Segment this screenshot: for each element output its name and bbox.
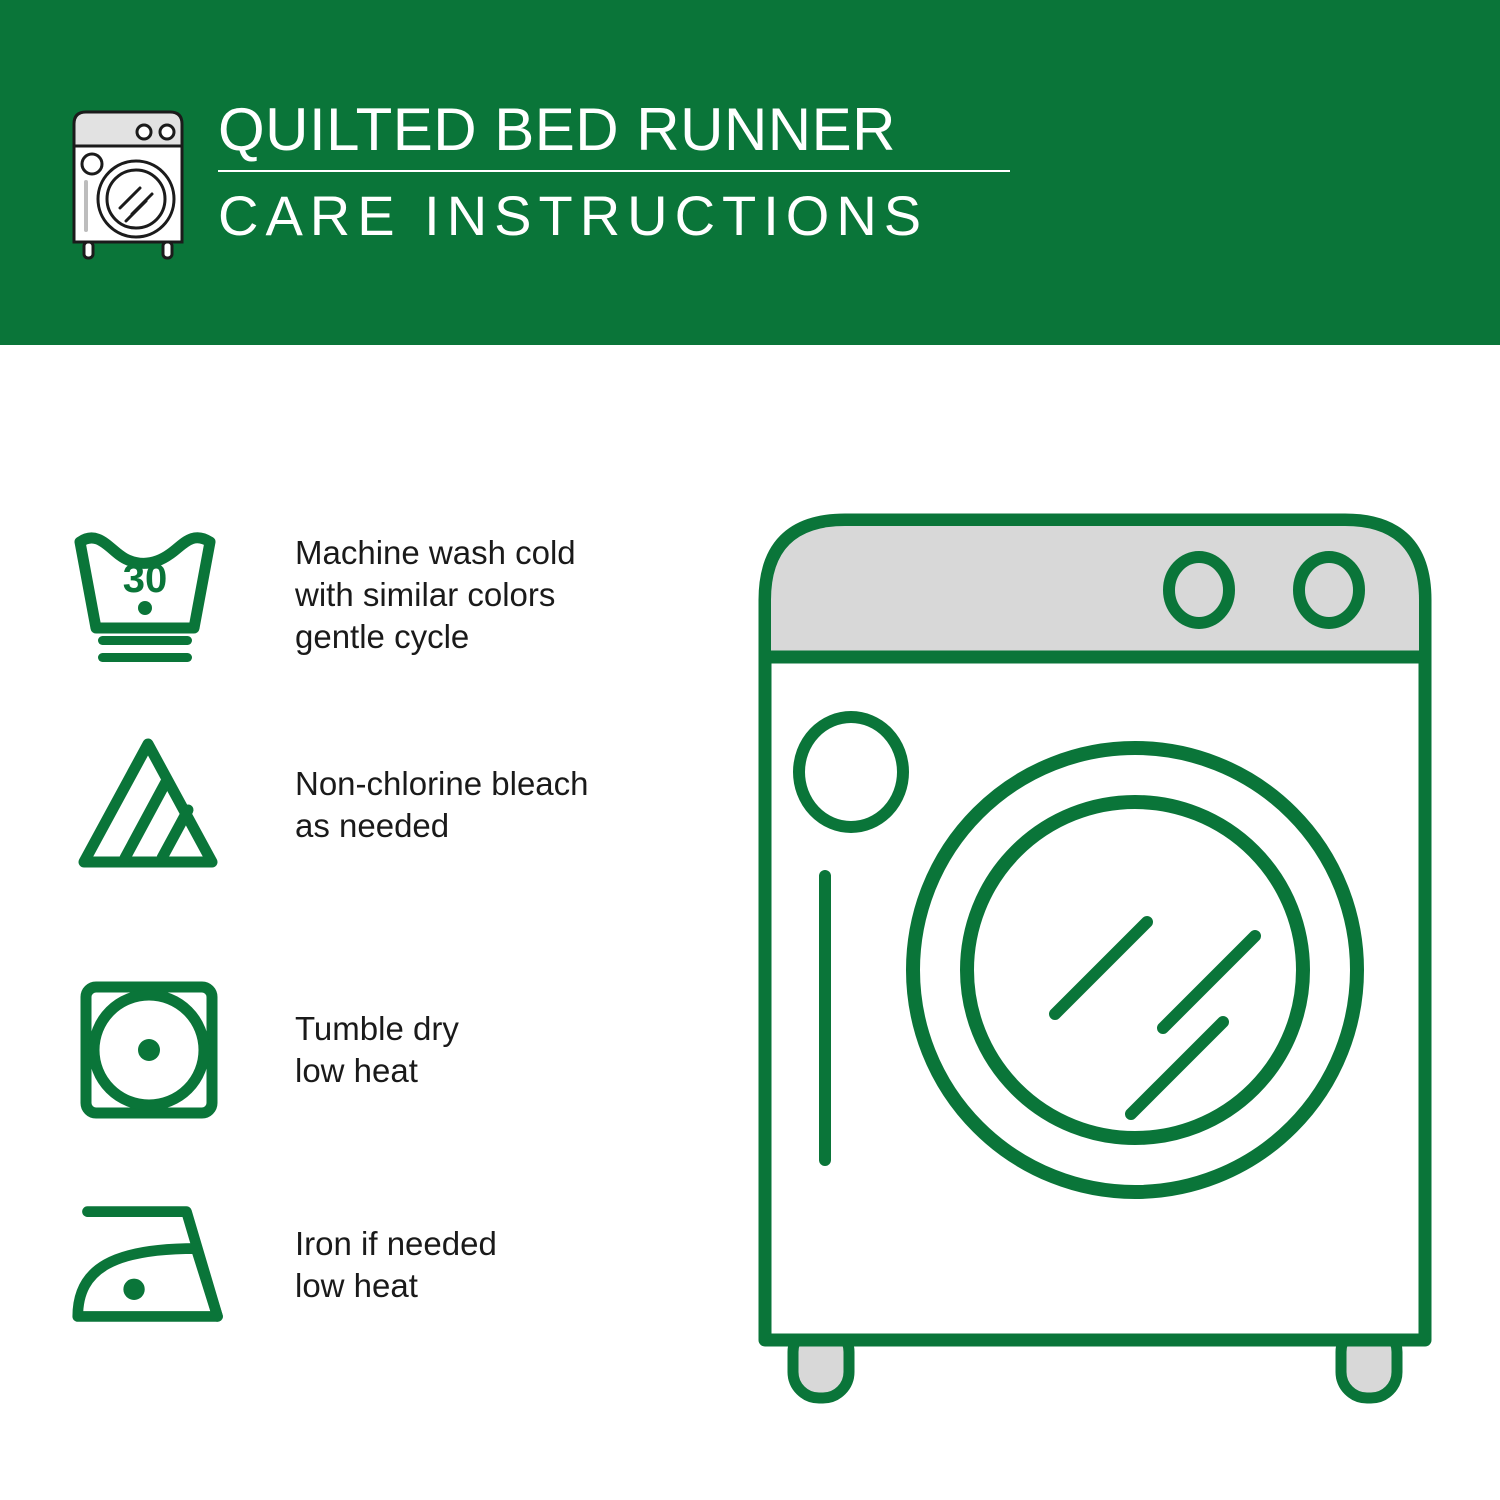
non-chlorine-bleach-triangle-icon xyxy=(70,730,235,880)
care-item-label: Non-chlorine bleach as needed xyxy=(295,763,589,847)
iron-low-heat-icon xyxy=(70,1190,235,1340)
tumble-dry-low-icon xyxy=(70,975,235,1125)
washer-indicator-circle xyxy=(799,717,903,827)
wash-temperature-value: 30 xyxy=(123,557,168,601)
care-item-label: Iron if needed low heat xyxy=(295,1223,497,1307)
header-divider xyxy=(218,170,1010,172)
washer-dial-right xyxy=(1299,557,1359,623)
header-content: QUILTED BED RUNNER CARE INSTRUCTIONS xyxy=(60,96,1060,276)
care-item-tumble-dry: Tumble dry low heat xyxy=(70,975,670,1125)
care-instructions-page: QUILTED BED RUNNER CARE INSTRUCTIONS 30 xyxy=(0,0,1500,1500)
care-item-machine-wash: 30 Machine wash cold with similar colors… xyxy=(70,520,670,670)
washer-drum-inner xyxy=(967,802,1303,1138)
page-title: QUILTED BED RUNNER xyxy=(218,96,1078,164)
care-item-label: Tumble dry low heat xyxy=(295,1008,459,1092)
care-item-iron: Iron if needed low heat xyxy=(70,1190,670,1340)
care-item-label: Machine wash cold with similar colors ge… xyxy=(295,532,576,658)
care-instruction-list: 30 Machine wash cold with similar colors… xyxy=(0,345,700,1500)
page-subtitle: CARE INSTRUCTIONS xyxy=(218,184,1078,248)
washer-dial-left xyxy=(1169,557,1229,623)
header-banner: QUILTED BED RUNNER CARE INSTRUCTIONS xyxy=(0,0,1500,345)
wash-tub-30-icon: 30 xyxy=(70,520,235,670)
care-item-bleach: Non-chlorine bleach as needed xyxy=(70,730,670,880)
washing-machine-logo-icon xyxy=(60,104,196,264)
header-text-block: QUILTED BED RUNNER CARE INSTRUCTIONS xyxy=(218,96,1078,248)
washing-machine-illustration xyxy=(735,480,1465,1420)
